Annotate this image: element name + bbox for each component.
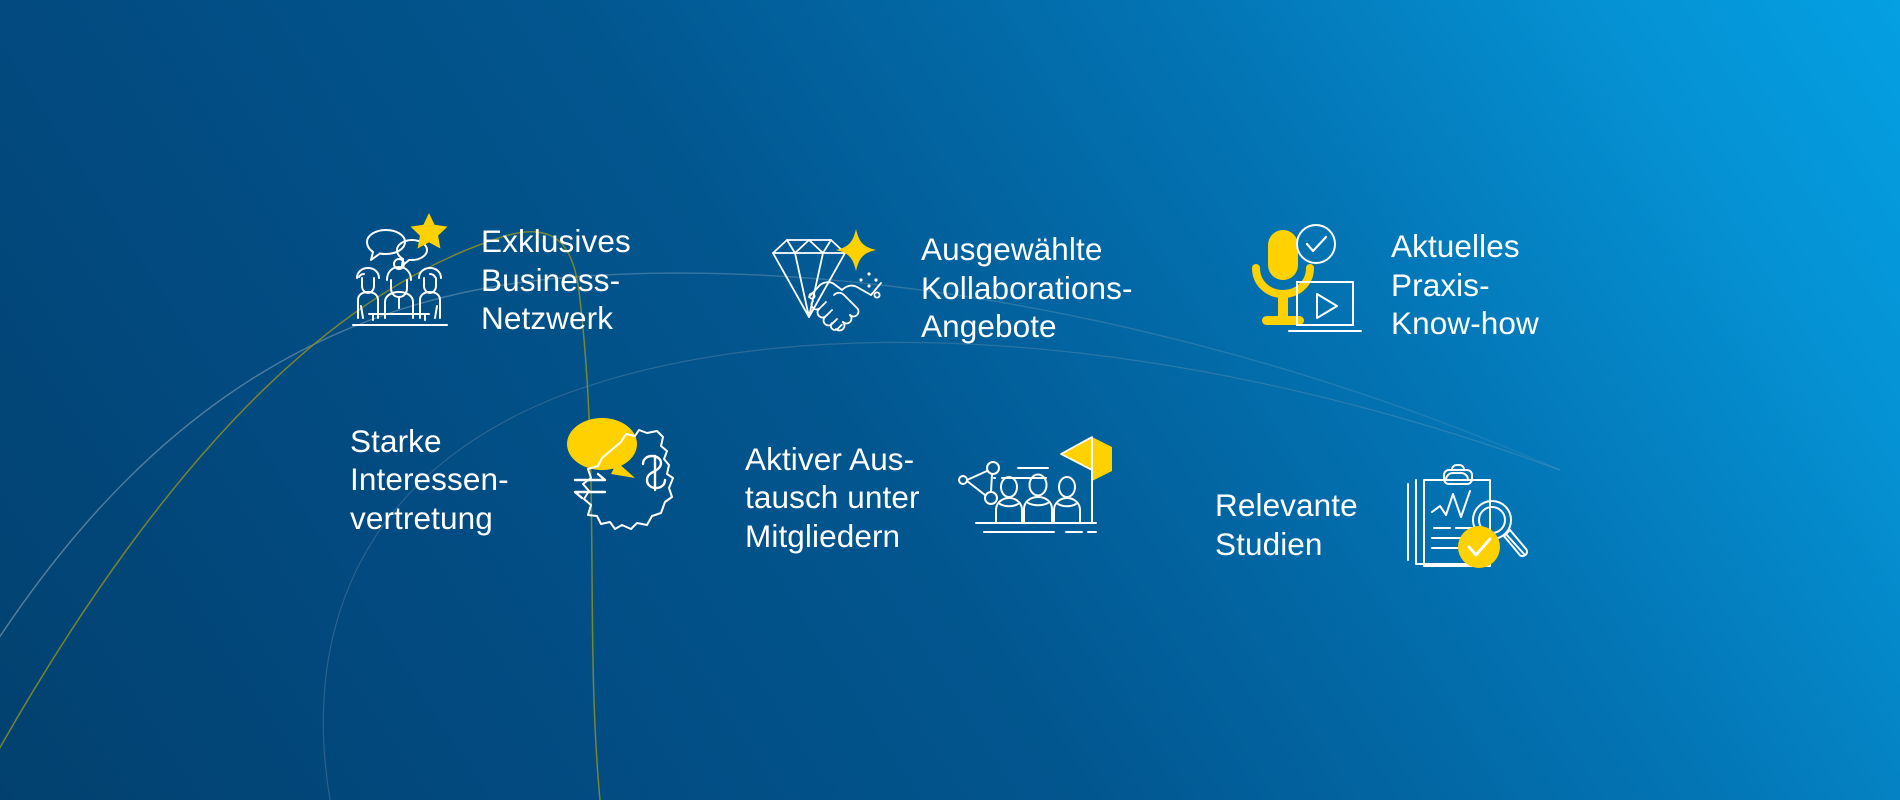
feature-label-interessenvertretung: Starke Interessen- vertretung [350,422,509,538]
feature-label-knowhow: Aktuelles Praxis- Know-how [1391,227,1539,343]
germany-map-paragraph-speech-icon [547,412,697,547]
feature-knowhow: Aktuelles Praxis- Know-how [1240,220,1539,350]
check-badge-icon [1456,524,1502,570]
feature-kollaborationen: Ausgewählte Kollaborations- Angebote [765,230,1133,346]
people-meeting-star-icon [345,222,455,337]
sparkle-icon [833,227,879,273]
feature-interessenvertretung: Starke Interessen- vertretung [350,412,697,547]
feature-label-studien: Relevante Studien [1215,486,1358,563]
star-icon [407,210,451,254]
clipboard-chart-magnifier-check-icon [1400,462,1530,587]
feature-label-austausch: Aktiver Aus- tausch unter Mitgliedern [745,440,920,556]
diamond-handshake-icon [765,233,895,343]
feature-label-netzwerk: Exklusives Business- Netzwerk [481,222,631,338]
feature-studien: Relevante Studien [1215,462,1530,587]
network-people-flag-icon [958,430,1118,565]
feature-austausch: Aktiver Aus- tausch unter Mitgliedern [745,430,1118,565]
hero-banner: Exklusives Business- Netzwerk [0,0,1900,800]
flag-icon [1053,435,1113,485]
feature-label-kollaborationen: Ausgewählte Kollaborations- Angebote [921,230,1133,346]
microphone-laptop-play-icon [1240,220,1365,350]
feature-netzwerk: Exklusives Business- Netzwerk [345,222,631,338]
background-decoration [0,0,1900,800]
